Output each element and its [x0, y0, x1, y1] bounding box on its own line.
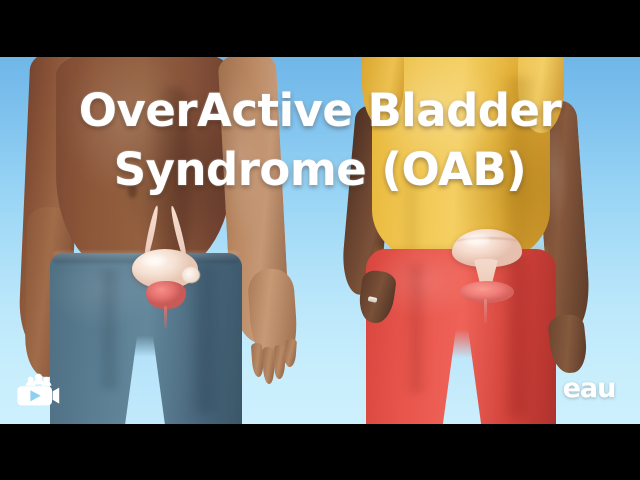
female-bladder-highlight: [464, 235, 490, 245]
female-figure: [340, 57, 640, 424]
letterbox-bar-top: [0, 0, 640, 57]
eau-wordmark: eau: [563, 375, 616, 402]
eau-logo: eau: [558, 373, 620, 403]
male-seminal-vesicle: [182, 267, 200, 283]
female-urethra: [484, 299, 487, 323]
video-frame: OverActive Bladder Syndrome (OAB): [0, 0, 640, 480]
female-bladder-overlay: [446, 223, 532, 331]
male-figure: [0, 57, 330, 424]
male-finger: [274, 345, 286, 379]
male-bladder-overlay: [120, 205, 212, 325]
play-people-icon: [17, 373, 65, 407]
male-bladder-highlight: [142, 255, 166, 266]
female-shirt-fold: [498, 77, 536, 247]
male-trousers-fold: [96, 269, 122, 389]
male-navel: [128, 185, 137, 198]
female-trousers-fold: [404, 263, 428, 393]
male-prostate-organ: [146, 281, 186, 309]
female-pelvic-floor-organ: [460, 281, 514, 303]
letterbox-bar-bottom: [0, 424, 640, 480]
male-finger: [262, 347, 274, 384]
male-finger: [284, 339, 297, 368]
video-play-people-logo: [17, 373, 65, 407]
male-urethra: [164, 306, 167, 328]
scene-stage: OverActive Bladder Syndrome (OAB): [0, 57, 640, 424]
